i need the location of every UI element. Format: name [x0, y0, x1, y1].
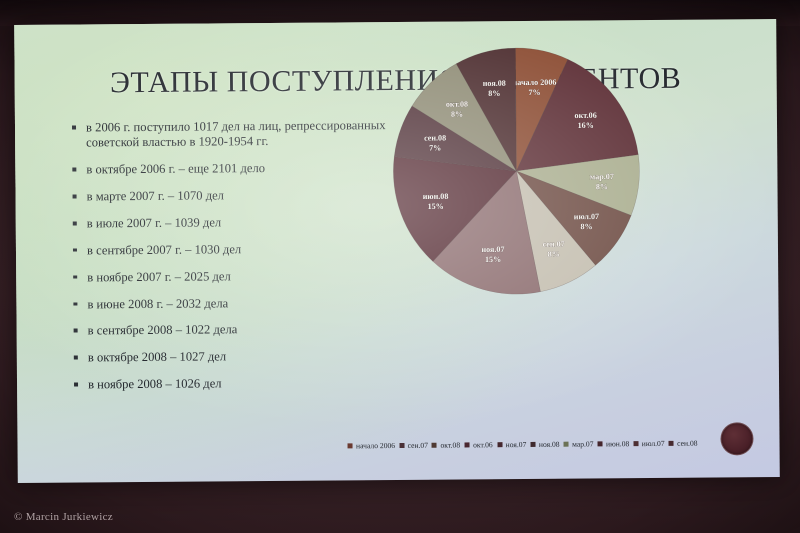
legend-swatch-icon: [348, 443, 353, 448]
pie-slice-value: 8%: [548, 250, 560, 259]
pie-slice-value: 8%: [488, 89, 500, 98]
pie-slice-value: 8%: [580, 222, 592, 231]
bullet-text: в марте 2007 г. – 1070 дел: [87, 188, 224, 203]
legend-swatch-icon: [432, 442, 437, 447]
pie-slice-value: 15%: [428, 202, 444, 211]
bullet-text: в 2006 г. поступило 1017 дел на лиц, реп…: [86, 118, 386, 150]
bullet-text: в октябре 2008 – 1027 дел: [88, 350, 226, 365]
pie-slice-value: 7%: [429, 143, 441, 152]
pie-slice-label: июн.08: [423, 192, 449, 201]
pie-slice-label: ноя.07: [481, 245, 504, 254]
bullet-marker-icon: [72, 126, 76, 130]
legend-swatch-icon: [399, 442, 404, 447]
bullet-marker-icon: [73, 221, 77, 225]
bullet-marker-icon: [74, 356, 78, 360]
chart-legend: начало 2006сен.07окт.08окт.06ноя.07ноя.0…: [347, 437, 697, 452]
bullet-marker-icon: [74, 329, 78, 333]
bullet-marker-icon: [73, 275, 77, 279]
bullet-text: в июле 2007 г. – 1039 дел: [87, 215, 222, 230]
legend-label: мар.07: [572, 439, 593, 448]
bullet-item: в июле 2007 г. – 1039 дел: [71, 214, 381, 232]
legend-label: сен.08: [677, 438, 697, 447]
bullet-item: в сентябре 2007 г. – 1030 дел: [71, 241, 381, 259]
bullet-marker-icon: [72, 168, 76, 172]
pie-slice-value: 7%: [528, 88, 540, 97]
legend-item: ноя.07: [497, 438, 526, 450]
bullet-item: в июне 2008 г. – 2032 дела: [71, 295, 381, 313]
pie-slice-value: 16%: [578, 121, 594, 130]
legend-swatch-icon: [497, 442, 502, 447]
bullet-marker-icon: [73, 302, 77, 306]
bullet-text: в июне 2008 г. – 2032 дела: [87, 296, 228, 311]
legend-label: ноя.08: [539, 439, 560, 448]
organization-seal-icon: [720, 422, 753, 455]
legend-label: июл.07: [642, 438, 665, 447]
legend-label: окт.06: [473, 440, 493, 449]
legend-label: ноя.07: [506, 439, 527, 448]
bullet-item: в ноябре 2007 г. – 2025 дел: [71, 268, 381, 286]
projection-screen: ЭТАПЫ ПОСТУПЛЕНИЯ ДОКУМЕНТОВ в 2006 г. п…: [14, 19, 780, 483]
legend-label: сен.07: [408, 440, 428, 449]
pie-slice-label: ноя.08: [483, 79, 506, 88]
legend-item: июн.08: [597, 437, 629, 449]
pie-slice-label: сен.08: [424, 133, 446, 142]
legend-swatch-icon: [530, 441, 535, 446]
legend-label: окт.08: [440, 440, 460, 449]
legend-swatch-icon: [597, 441, 602, 446]
bullet-marker-icon: [74, 383, 78, 387]
pie-slice-value: 8%: [451, 110, 463, 119]
legend-item: начало 2006: [347, 439, 395, 451]
pie-slice-label: сен.07: [543, 240, 565, 249]
bullet-marker-icon: [73, 195, 77, 199]
photographer-watermark: © Marcin Jurkiewicz: [14, 511, 113, 523]
bullet-text: в ноябре 2007 г. – 2025 дел: [87, 269, 231, 284]
presentation-slide: ЭТАПЫ ПОСТУПЛЕНИЯ ДОКУМЕНТОВ в 2006 г. п…: [14, 19, 780, 483]
legend-swatch-icon: [564, 441, 569, 446]
bullet-item: в октябре 2008 – 1027 дел: [72, 348, 382, 366]
pie-slice-label: мар.07: [590, 172, 614, 181]
bullet-item: в октябре 2006 г. – еще 2101 дело: [70, 160, 380, 178]
legend-label: начало 2006: [356, 441, 395, 450]
bullet-text: в ноябре 2008 – 1026 дел: [88, 376, 222, 391]
legend-swatch-icon: [465, 442, 470, 447]
legend-item: сен.08: [669, 437, 698, 449]
legend-swatch-icon: [633, 441, 638, 446]
pie-slice-label: окт.06: [575, 111, 597, 120]
bullet-item: в марте 2007 г. – 1070 дел: [71, 187, 381, 205]
pie-chart: начало 20067%окт.0616%мар.078%июл.078%се…: [350, 20, 682, 323]
bullet-marker-icon: [73, 248, 77, 252]
legend-item: ноя.08: [530, 438, 559, 450]
pie-slice-value: 15%: [485, 255, 501, 264]
legend-item: окт.06: [465, 438, 494, 450]
legend-item: окт.08: [432, 439, 461, 451]
pie-slice-label: окт.08: [446, 100, 468, 109]
pie-chart-svg: начало 20067%окт.0616%мар.078%июл.078%се…: [350, 20, 682, 323]
pie-slice-value: 8%: [596, 182, 608, 191]
bullet-list: в 2006 г. поступило 1017 дел на лиц, реп…: [70, 118, 382, 404]
slide-surface: ЭТАПЫ ПОСТУПЛЕНИЯ ДОКУМЕНТОВ в 2006 г. п…: [14, 19, 780, 483]
legend-swatch-icon: [669, 440, 674, 445]
pie-slice-label: июл.07: [574, 212, 599, 221]
legend-item: мар.07: [564, 437, 594, 449]
legend-item: июл.07: [633, 437, 664, 449]
bullet-text: в сентябре 2007 г. – 1030 дел: [87, 242, 241, 257]
pie-slice-label: начало 2006: [513, 78, 557, 87]
bullet-item: в сентябре 2008 – 1022 дела: [72, 321, 382, 339]
bullet-text: в октябре 2006 г. – еще 2101 дело: [86, 161, 265, 176]
legend-item: сен.07: [399, 439, 428, 451]
legend-label: июн.08: [606, 439, 629, 448]
bullet-item: в ноябре 2008 – 1026 дел: [72, 375, 382, 393]
bullet-text: в сентябре 2008 – 1022 дела: [88, 323, 238, 338]
